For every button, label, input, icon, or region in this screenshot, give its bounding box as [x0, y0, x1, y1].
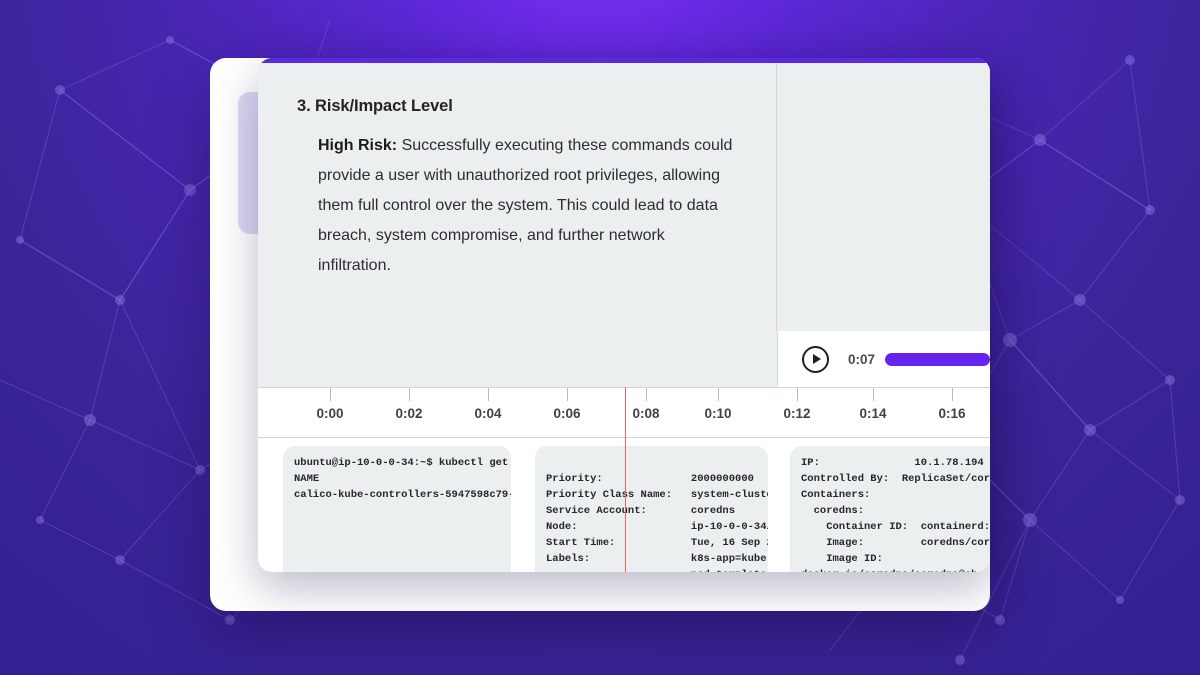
- ruler-tick: [873, 388, 874, 401]
- terminal-line: Service Account: coredns: [546, 503, 768, 519]
- terminal-line: Priority Class Name: system-cluste: [546, 487, 768, 503]
- play-circle-icon[interactable]: [802, 346, 829, 373]
- ruler-tick-label: 0:02: [395, 406, 422, 421]
- terminal-clip-1[interactable]: ubuntu@ip-10-0-0-34:~$ kubectl get pNAME…: [283, 446, 511, 572]
- terminal-clip-2[interactable]: Priority: 2000000000Priority Class Name:…: [535, 446, 768, 572]
- terminal-line: Containers:: [801, 487, 990, 503]
- progress-scrubber[interactable]: [885, 353, 990, 366]
- terminal-line: coredns:: [801, 503, 990, 519]
- terminal-line: [546, 455, 768, 471]
- terminal-line: Labels: k8s-app=kube-: [546, 551, 768, 567]
- terminal-line: Controlled By: ReplicaSet/cor: [801, 471, 990, 487]
- timeline-ruler[interactable]: 0:000:020:040:060:080:100:120:140:16: [258, 387, 990, 438]
- timeline-clip-track[interactable]: ubuntu@ip-10-0-0-34:~$ kubectl get pNAME…: [258, 438, 990, 572]
- document-pane: 3. Risk/Impact Level High Risk: Successf…: [258, 63, 777, 331]
- playback-controls: 0:07: [777, 331, 990, 387]
- terminal-line: pod-template-: [546, 567, 768, 572]
- page-title: 3. Risk/Impact Level: [297, 97, 736, 116]
- ruler-tick-label: 0:00: [316, 406, 343, 421]
- ruler-tick-label: 0:12: [783, 406, 810, 421]
- ruler-tick-label: 0:14: [859, 406, 886, 421]
- ruler-tick: [797, 388, 798, 401]
- ruler-tick-label: 0:10: [704, 406, 731, 421]
- terminal-line: Image ID:: [801, 551, 990, 567]
- current-time-label: 0:07: [848, 352, 875, 367]
- video-preview-pane: [777, 63, 990, 331]
- ruler-tick: [330, 388, 331, 401]
- ruler-tick-label: 0:04: [474, 406, 501, 421]
- terminal-line: calico-kube-controllers-5947598c79-v: [294, 487, 511, 503]
- terminal-line: Node: ip-10-0-0-34/1: [546, 519, 768, 535]
- ruler-tick: [646, 388, 647, 401]
- ruler-tick: [567, 388, 568, 401]
- terminal-clip-3[interactable]: IP: 10.1.78.194Controlled By: ReplicaSet…: [790, 446, 990, 572]
- upper-region: 3. Risk/Impact Level High Risk: Successf…: [258, 63, 990, 331]
- ruler-tick-label: 0:16: [938, 406, 965, 421]
- ruler-tick: [488, 388, 489, 401]
- progress-fill: [885, 353, 990, 366]
- terminal-line: NAME: [294, 471, 511, 487]
- terminal-line: docker.io/coredns/coredns@sha25: [801, 567, 990, 572]
- terminal-line: ubuntu@ip-10-0-0-34:~$ kubectl get p: [294, 455, 511, 471]
- app-window: 3. Risk/Impact Level High Risk: Successf…: [258, 58, 990, 572]
- timeline-playhead[interactable]: [625, 387, 626, 572]
- terminal-line: Start Time: Tue, 16 Sep 2: [546, 535, 768, 551]
- ruler-tick: [952, 388, 953, 401]
- risk-level-label: High Risk:: [318, 137, 397, 154]
- risk-description: High Risk: Successfully executing these …: [297, 131, 736, 281]
- terminal-line: Container ID: containerd:: [801, 519, 990, 535]
- terminal-line: IP: 10.1.78.194: [801, 455, 990, 471]
- risk-description-text: Successfully executing these commands co…: [318, 137, 732, 274]
- terminal-line: Priority: 2000000000: [546, 471, 768, 487]
- ruler-tick: [718, 388, 719, 401]
- ruler-tick-label: 0:08: [632, 406, 659, 421]
- play-triangle-glyph: [813, 354, 821, 364]
- ruler-tick-label: 0:06: [553, 406, 580, 421]
- ruler-tick: [409, 388, 410, 401]
- terminal-line: Image: coredns/cor: [801, 535, 990, 551]
